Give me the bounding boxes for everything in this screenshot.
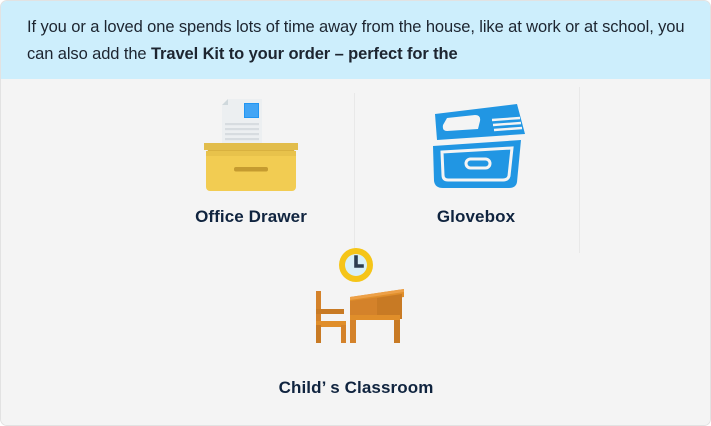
clock-icon	[339, 248, 373, 282]
tile-glovebox: Glovebox	[381, 89, 571, 227]
divider-right	[579, 87, 580, 253]
glovebox-art	[381, 89, 571, 201]
glovebox-icon	[421, 98, 531, 192]
tile-label-office-drawer: Office Drawer	[156, 207, 346, 227]
callout-text: If you or a loved one spends lots of tim…	[27, 14, 690, 68]
office-drawer-art	[156, 89, 346, 201]
callout-text-bold: Travel Kit to your order – perfect for t…	[151, 45, 458, 63]
office-drawer-icon	[192, 93, 310, 197]
school-desk-icon	[292, 247, 420, 371]
tiles-area: Office Drawer	[1, 79, 711, 426]
school-desk-art	[246, 244, 466, 374]
divider-left	[354, 93, 355, 251]
promo-card: If you or a loved one spends lots of tim…	[0, 0, 711, 426]
tile-label-childs-classroom: Child’ s Classroom	[246, 378, 466, 398]
tile-childs-classroom: Child’ s Classroom	[246, 244, 466, 398]
tile-label-glovebox: Glovebox	[381, 207, 571, 227]
tile-office-drawer: Office Drawer	[156, 89, 346, 227]
callout-banner: If you or a loved one spends lots of tim…	[1, 1, 711, 79]
